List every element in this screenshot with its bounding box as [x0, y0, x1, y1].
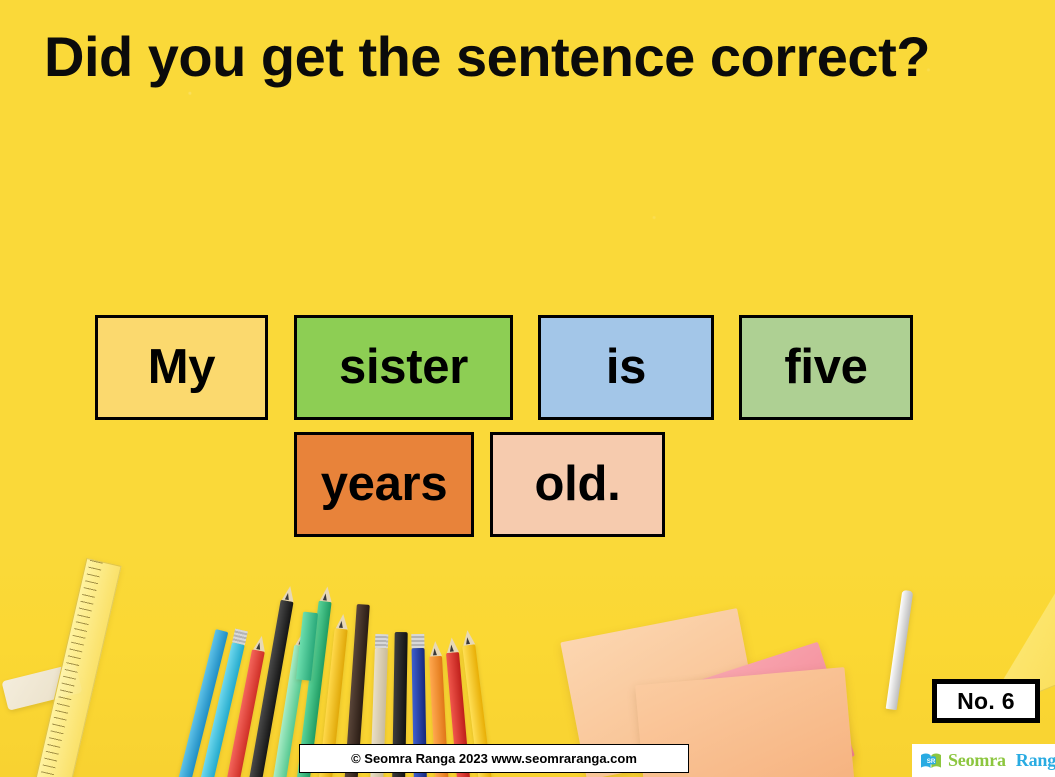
brand-logo: SR Seomra Ranga [912, 744, 1055, 777]
slide-number-badge: No. 6 [932, 679, 1040, 723]
word-card[interactable]: is [538, 315, 714, 420]
word-card[interactable]: five [739, 315, 913, 420]
scissors-object [886, 590, 914, 710]
logo-word-seomra: Seomra [948, 750, 1006, 771]
ruler-object [34, 558, 121, 777]
slide-canvas: Did you get the sentence correct? Mysist… [0, 0, 1055, 777]
word-card[interactable]: old. [490, 432, 665, 537]
word-card[interactable]: My [95, 315, 268, 420]
open-book-icon: SR [920, 752, 942, 770]
logo-word-ranga: Ranga [1016, 750, 1055, 771]
copyright-bar: © Seomra Ranga 2023 www.seomraranga.com [299, 744, 689, 773]
word-card[interactable]: years [294, 432, 474, 537]
word-card[interactable]: sister [294, 315, 513, 420]
svg-text:SR: SR [927, 757, 936, 764]
